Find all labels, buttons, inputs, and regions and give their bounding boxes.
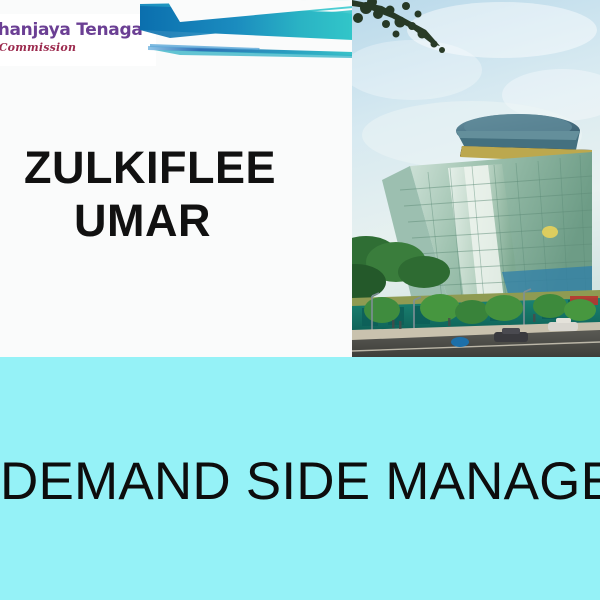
swoosh-decoration xyxy=(140,0,353,62)
dome-roof xyxy=(456,114,580,150)
slide-upper-panel: uruhanjaya Tenaga ergy Commission xyxy=(0,0,600,357)
presenter-name-line2: UMAR xyxy=(74,196,211,246)
logo-organization-subtitle: ergy Commission xyxy=(0,41,156,54)
swoosh-icon xyxy=(140,0,353,62)
presentation-slide: uruhanjaya Tenaga ergy Commission xyxy=(0,0,600,600)
motorcycle xyxy=(451,337,469,347)
organization-logo: uruhanjaya Tenaga ergy Commission xyxy=(0,14,156,66)
logo-organization-name: uruhanjaya Tenaga xyxy=(0,20,156,40)
building-photo xyxy=(352,0,600,357)
slide-title-text: DEMAND SIDE MANAGEMENT UNIT xyxy=(0,452,600,512)
building-photo-illustration xyxy=(352,0,600,357)
presenter-name-line1: ZULKIFLEE xyxy=(24,143,276,193)
